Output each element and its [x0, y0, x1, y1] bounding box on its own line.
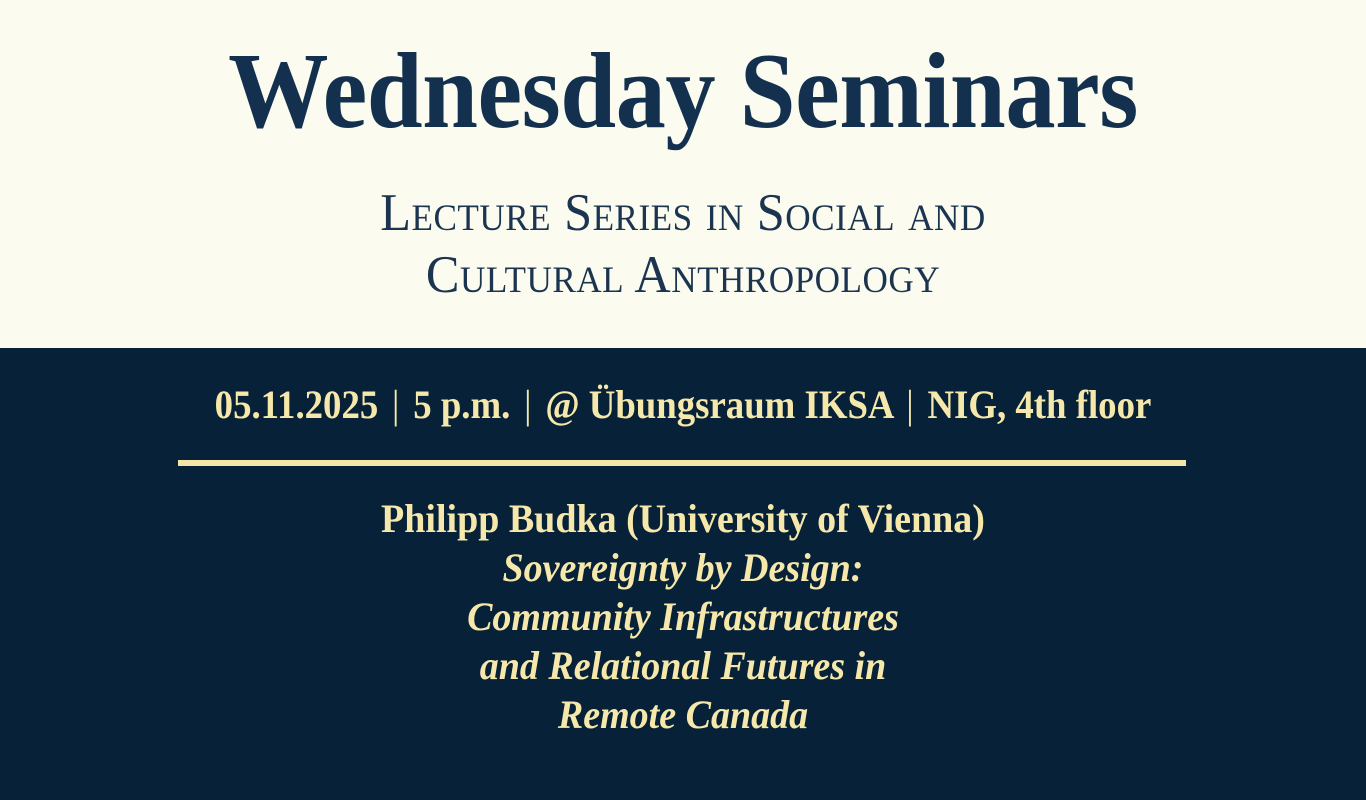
page-subtitle-line-2: Cultural Anthropology	[34, 244, 1332, 306]
talk-block: Philipp Budka (University of Vienna) Sov…	[0, 494, 1366, 739]
event-separator-1: |	[387, 382, 404, 427]
talk-title-line-1: Sovereignty by Design:	[34, 543, 1332, 592]
page-title: Wednesday Seminars	[48, 36, 1318, 148]
divider-rule	[178, 460, 1186, 466]
header-band: Wednesday Seminars Lecture Series in Soc…	[0, 0, 1366, 348]
details-band: 05.11.2025 | 5 p.m. | @ Übungsraum IKSA …	[0, 348, 1366, 800]
page-subtitle: Lecture Series in Social and Cultural An…	[34, 182, 1332, 306]
event-venue: @ Übungsraum IKSA	[545, 382, 892, 427]
page-subtitle-line-1: Lecture Series in Social and	[34, 182, 1332, 244]
seminar-poster: Wednesday Seminars Lecture Series in Soc…	[0, 0, 1366, 800]
event-details-line: 05.11.2025 | 5 p.m. | @ Übungsraum IKSA …	[55, 381, 1312, 429]
talk-speaker: Philipp Budka (University of Vienna)	[34, 494, 1332, 543]
talk-title-line-4: Remote Canada	[34, 690, 1332, 739]
talk-title-line-3: and Relational Futures in	[34, 641, 1332, 690]
talk-title-line-2: Community Infrastructures	[34, 592, 1332, 641]
event-separator-2: |	[520, 382, 537, 427]
event-location: NIG, 4th floor	[927, 382, 1151, 427]
event-date: 05.11.2025	[215, 382, 379, 427]
event-separator-3: |	[902, 382, 919, 427]
event-time: 5 p.m.	[413, 382, 510, 427]
